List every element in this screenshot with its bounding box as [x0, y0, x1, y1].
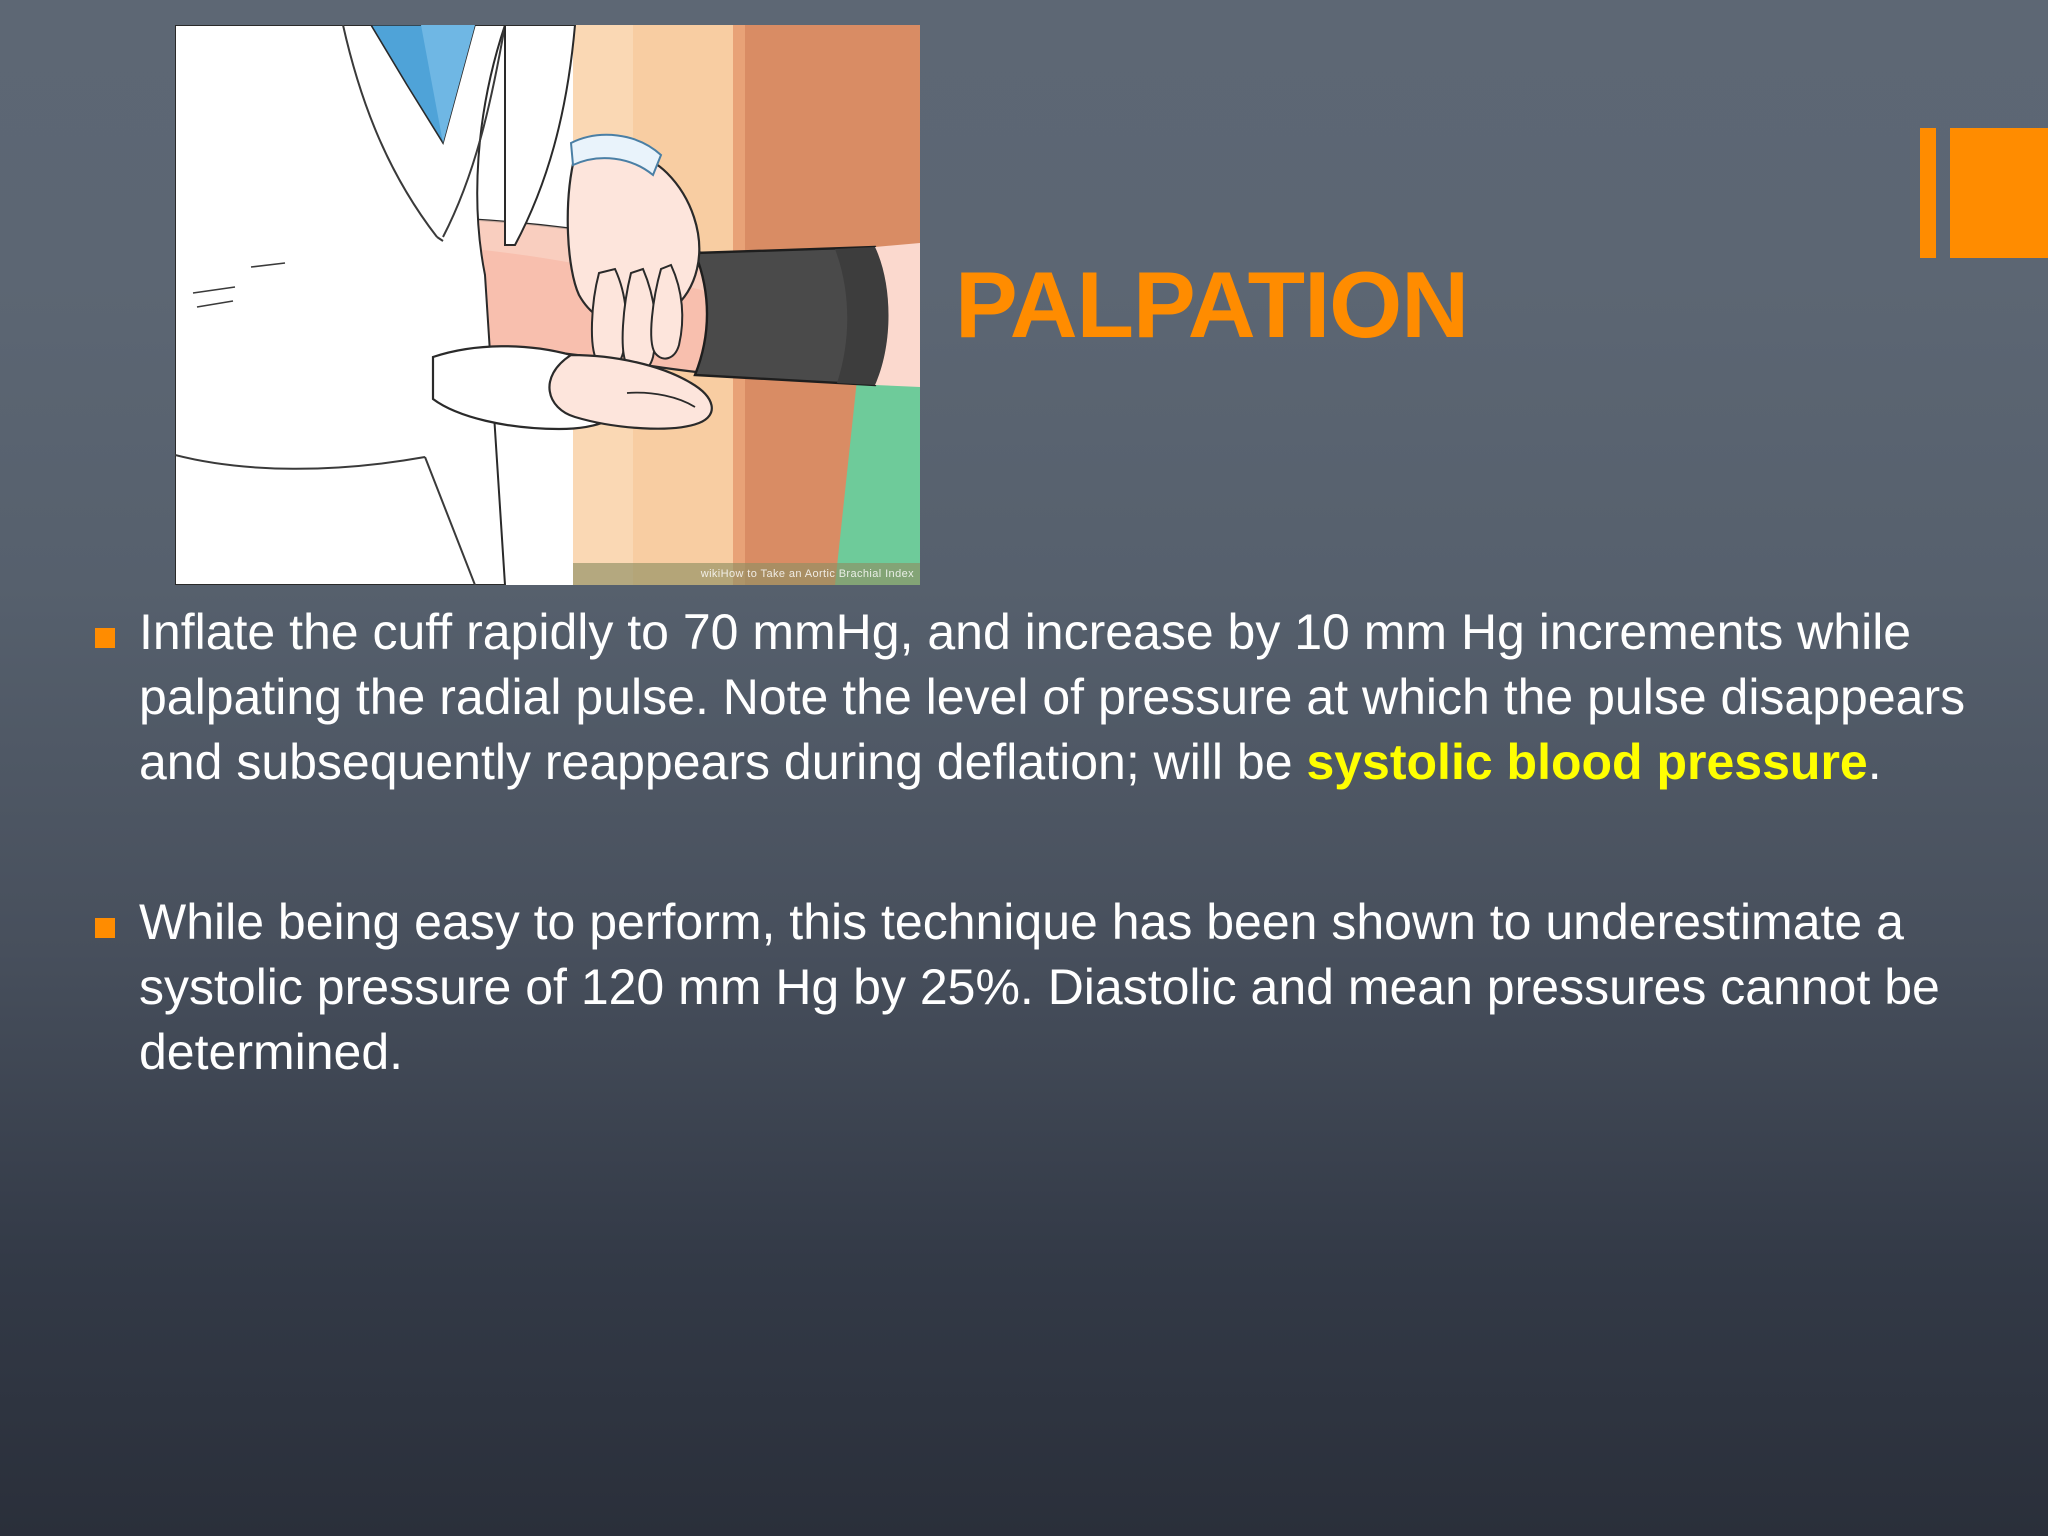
bullet-item: While being easy to perform, this techni…	[95, 890, 1975, 1085]
bullet-marker-square	[95, 918, 115, 938]
bullet-text: While being easy to perform, this techni…	[139, 890, 1975, 1085]
palpation-illustration: wikiHow to Take an Aortic Brachial Index	[175, 25, 920, 585]
illustration-watermark: wikiHow to Take an Aortic Brachial Index	[175, 563, 920, 585]
bullet-text-segment: While being easy to perform, this techni…	[139, 894, 1940, 1080]
slide-canvas: wikiHow to Take an Aortic Brachial Index…	[0, 0, 2048, 1536]
slide-title: PALPATION	[955, 258, 1468, 352]
decorative-thin-bar	[1920, 128, 1936, 258]
decorative-gap	[1936, 128, 1950, 258]
decorative-orange-bars	[1920, 128, 2048, 258]
palpation-illustration-drawing	[175, 25, 920, 585]
bullet-item: Inflate the cuff rapidly to 70 mmHg, and…	[95, 600, 1975, 795]
bullet-text: Inflate the cuff rapidly to 70 mmHg, and…	[139, 600, 1975, 795]
bullet-text-segment-tail: .	[1868, 734, 1882, 790]
bullet-marker-square	[95, 628, 115, 648]
slide-body: Inflate the cuff rapidly to 70 mmHg, and…	[95, 600, 1975, 1085]
decorative-wide-bar	[1950, 128, 2048, 258]
bullet-text-highlight: systolic blood pressure	[1306, 734, 1867, 790]
